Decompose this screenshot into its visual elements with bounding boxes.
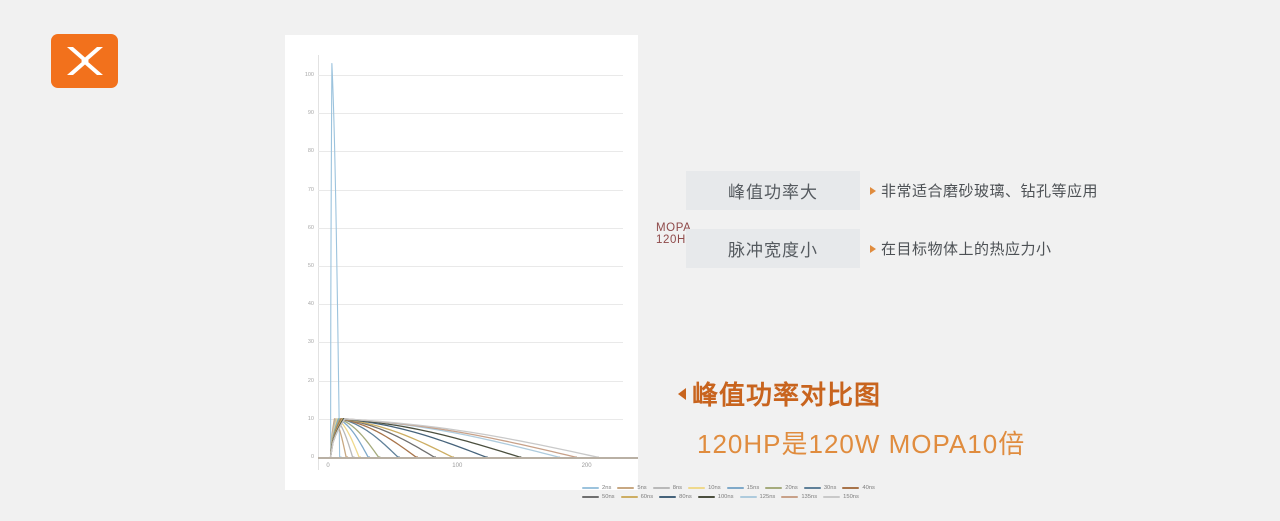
legend-item[interactable]: 30ns	[804, 485, 837, 491]
legend-swatch	[727, 487, 744, 489]
legend-label: 150ns	[843, 494, 859, 500]
x-axis-tick-label: 100	[452, 463, 462, 469]
legend-label: 60ns	[641, 494, 654, 500]
y-axis-tick-label: 90	[308, 110, 314, 116]
y-axis-tick-label: 100	[305, 72, 314, 78]
feature-description: 在目标物体上的热应力小	[881, 238, 1052, 259]
legend-item[interactable]: 10ns	[688, 485, 721, 491]
legend-label: 20ns	[785, 485, 798, 491]
legend-label: 100ns	[718, 494, 734, 500]
legend-label: 50ns	[602, 494, 615, 500]
legend-item[interactable]: 100ns	[698, 494, 734, 500]
legend-swatch	[582, 496, 599, 498]
legend-swatch	[740, 496, 757, 498]
y-axis-tick-label: 50	[308, 263, 314, 269]
x-axis-line	[318, 457, 638, 459]
legend-label: 30ns	[824, 485, 837, 491]
headline-subtitle: 120HP是120W MOPA10倍	[697, 424, 1025, 461]
feature-pill-label: 峰值功率大	[686, 171, 860, 210]
slide-root: 0102030405060708090100 0100200 MOPA 120H…	[0, 0, 1280, 521]
legend-item[interactable]: 50ns	[582, 494, 615, 500]
legend-item[interactable]: 5ns	[617, 485, 646, 491]
y-axis-tick-label: 0	[311, 454, 314, 460]
headline-title-row: 峰值功率对比图	[678, 375, 1025, 412]
series-line	[331, 64, 342, 457]
legend-item[interactable]: 2ns	[582, 485, 611, 491]
legend-item[interactable]: 125ns	[740, 494, 776, 500]
y-axis-tick-label: 20	[308, 378, 314, 384]
legend-label: 10ns	[708, 485, 721, 491]
y-axis-tick-label: 70	[308, 187, 314, 193]
legend-label: 125ns	[760, 494, 776, 500]
legend-item[interactable]: 60ns	[621, 494, 654, 500]
y-axis-tick-label: 10	[308, 416, 314, 422]
legend-swatch	[659, 496, 676, 498]
legend-label: 5ns	[637, 485, 646, 491]
y-axis-tick-label: 80	[308, 148, 314, 154]
legend-label: 15ns	[747, 485, 760, 491]
headline-title: 峰值功率对比图	[692, 375, 881, 412]
y-axis-tick-label: 40	[308, 301, 314, 307]
headline-block: 峰值功率对比图 120HP是120W MOPA10倍	[678, 375, 1025, 461]
feature-row-peak-power: 峰值功率大 非常适合磨砂玻璃、钻孔等应用	[686, 171, 1098, 210]
legend-swatch	[617, 487, 634, 489]
series-lines	[318, 55, 638, 470]
legend-swatch	[698, 496, 715, 498]
triangle-right-icon	[870, 187, 876, 195]
legend-label: 40ns	[862, 485, 875, 491]
legend-item[interactable]: 40ns	[842, 485, 875, 491]
legend-swatch	[842, 487, 859, 489]
legend-swatch	[765, 487, 782, 489]
double-chevron-logo-icon	[63, 44, 107, 78]
brand-logo	[51, 34, 118, 88]
legend-label: 8ns	[673, 485, 682, 491]
legend-swatch	[582, 487, 599, 489]
legend-swatch	[621, 496, 638, 498]
x-axis-tick-label: 0	[326, 463, 329, 469]
legend-item[interactable]: 8ns	[653, 485, 682, 491]
legend-item[interactable]: 80ns	[659, 494, 692, 500]
legend-swatch	[781, 496, 798, 498]
y-axis-tick-label: 30	[308, 339, 314, 345]
feature-description: 非常适合磨砂玻璃、钻孔等应用	[881, 180, 1098, 201]
plot-area: 0102030405060708090100 0100200	[318, 55, 623, 470]
x-axis-tick-label: 200	[582, 463, 592, 469]
legend-label: 80ns	[679, 494, 692, 500]
legend-swatch	[804, 487, 821, 489]
feature-row-pulse-width: 脉冲宽度小 在目标物体上的热应力小	[686, 229, 1052, 268]
chart-card: 0102030405060708090100 0100200 MOPA 120H…	[285, 35, 638, 490]
legend-swatch	[653, 487, 670, 489]
legend-label: 2ns	[602, 485, 611, 491]
feature-pill-label: 脉冲宽度小	[686, 229, 860, 268]
legend-item[interactable]: 20ns	[765, 485, 798, 491]
triangle-right-icon	[870, 245, 876, 253]
chart-legend: 2ns5ns8ns10ns15ns20ns30ns40ns50ns60ns80n…	[582, 485, 918, 500]
legend-item[interactable]: 150ns	[823, 494, 859, 500]
legend-swatch	[688, 487, 705, 489]
y-axis-tick-label: 60	[308, 225, 314, 231]
triangle-left-icon	[678, 388, 686, 400]
legend-label: 135ns	[801, 494, 817, 500]
legend-item[interactable]: 135ns	[781, 494, 817, 500]
legend-swatch	[823, 496, 840, 498]
legend-item[interactable]: 15ns	[727, 485, 760, 491]
